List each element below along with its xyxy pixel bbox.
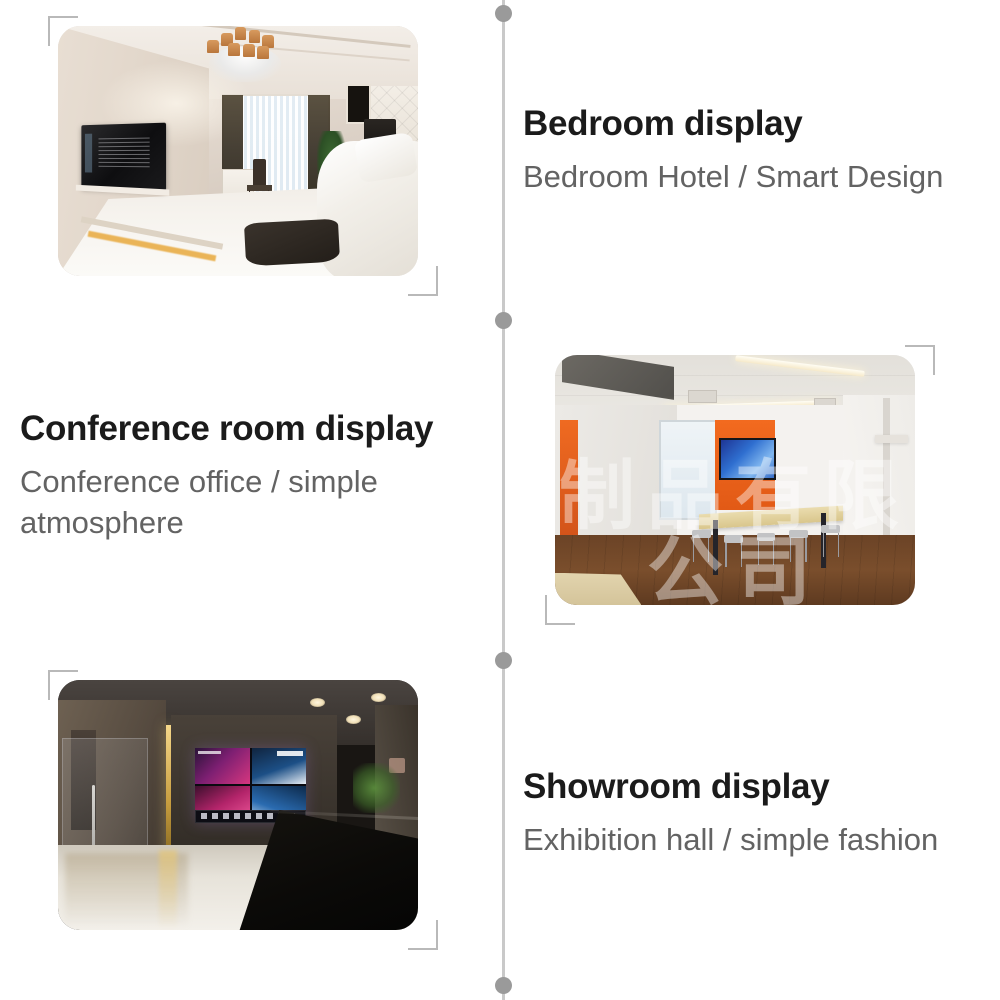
showroom-subtitle: Exhibition hall / simple fashion: [523, 819, 1000, 861]
video-panel-clock: [277, 751, 303, 756]
chair-backrest: [253, 159, 266, 188]
video-panel-caption-bar: [198, 751, 221, 754]
ceiling-downlight: [371, 693, 386, 702]
bedroom-wall-art: [346, 84, 371, 124]
tv-screen-content: [99, 137, 150, 169]
chair-leg: [805, 538, 806, 563]
showroom-title: Showroom display: [523, 768, 1000, 807]
floor-gold-reflection: [159, 850, 177, 930]
chair-leg: [708, 538, 709, 563]
section-bedroom: Bedroom display Bedroom Hotel / Smart De…: [0, 0, 500, 330]
ceiling-downlight: [346, 715, 361, 724]
bedroom-scene: [58, 26, 418, 276]
chandelier-shade: [235, 27, 247, 40]
chandelier-shade: [257, 46, 269, 59]
video-wall-panel: [252, 748, 307, 785]
conference-glass-partition: [659, 420, 717, 520]
section-showroom: Showroom display Exhibition hall / simpl…: [0, 660, 1000, 1000]
chair-leg: [741, 543, 742, 568]
chair-leg: [838, 533, 839, 558]
showroom-plant-foliage: [353, 763, 400, 813]
conference-wall-shelf: [875, 435, 907, 443]
chair-leg: [693, 538, 694, 563]
showroom-scene: [58, 680, 418, 930]
bedroom-title: Bedroom display: [523, 105, 1000, 144]
conference-chair: [757, 533, 776, 566]
conference-photo-frame: 制品有限公司: [545, 345, 935, 625]
conference-subtitle: Conference office / simple atmosphere: [20, 461, 450, 544]
chair-leg: [725, 543, 726, 568]
conference-caption: Conference room display Conference offic…: [20, 410, 490, 544]
chair-leg: [758, 540, 759, 565]
bedroom-subtitle: Bedroom Hotel / Smart Design: [523, 156, 1000, 198]
chair-leg: [773, 540, 774, 565]
bedroom-dark-cushion: [244, 219, 340, 266]
chair-leg: [823, 533, 824, 558]
conference-chair: [692, 530, 711, 563]
ceiling-downlight: [310, 698, 325, 707]
conference-chair: [821, 525, 840, 558]
bedroom-pillow: [354, 132, 418, 183]
conference-orange-doorway: [560, 420, 578, 535]
tv-screen-sidebar: [84, 133, 92, 172]
showroom-photo-frame: [48, 670, 438, 950]
conference-door-jamb: [883, 398, 890, 548]
conference-wall-display: [719, 438, 777, 481]
showroom-photo[interactable]: [58, 680, 418, 930]
showroom-caption: Showroom display Exhibition hall / simpl…: [523, 768, 1000, 860]
chandelier-shade: [207, 40, 219, 53]
video-wall-panel: [195, 748, 250, 785]
bedroom-photo-frame: [48, 16, 438, 296]
chair-leg: [790, 538, 791, 563]
bedroom-chandelier: [202, 26, 288, 89]
section-conference: Conference room display Conference offic…: [0, 330, 1000, 660]
conference-ceiling-vent: [688, 390, 717, 403]
chandelier-shade: [249, 30, 261, 43]
conference-chair: [789, 530, 808, 563]
bedroom-wall-tv: [81, 122, 166, 190]
bedroom-caption: Bedroom display Bedroom Hotel / Smart De…: [523, 105, 1000, 197]
conference-right-wall: [843, 395, 915, 550]
table-leg: [713, 520, 718, 575]
bedroom-photo[interactable]: [58, 26, 418, 276]
conference-chair: [724, 535, 743, 568]
conference-photo[interactable]: 制品有限公司: [555, 355, 915, 605]
chandelier-shade: [243, 44, 255, 57]
conference-title: Conference room display: [20, 410, 490, 449]
conference-scene: 制品有限公司: [555, 355, 915, 605]
chandelier-shade: [228, 43, 240, 56]
